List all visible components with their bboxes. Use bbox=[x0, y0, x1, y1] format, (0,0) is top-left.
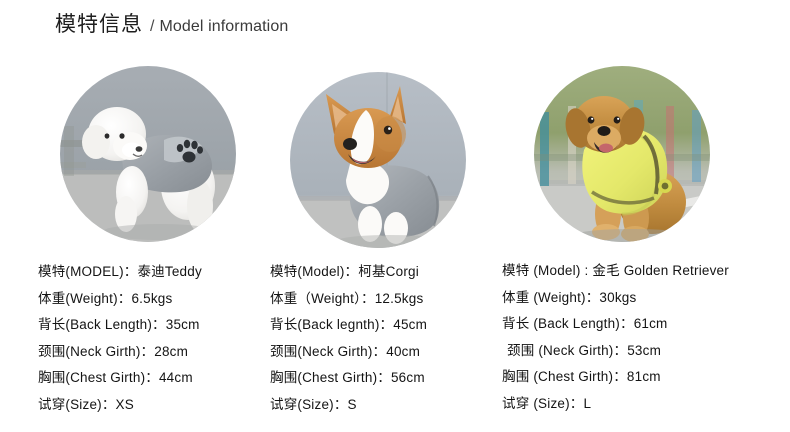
spec-weight: 体重 (Weight)：30kgs bbox=[502, 285, 790, 312]
model-list: 模特(MODEL)：泰迪Teddy 体重(Weight)：6.5kgs 背长(B… bbox=[0, 60, 790, 432]
model-specs-golden: 模特 (Model) : 金毛 Golden Retriever 体重 (Wei… bbox=[502, 258, 790, 417]
model-photo-corgi-wrap bbox=[290, 72, 466, 248]
model-photo-teddy-wrap bbox=[60, 66, 236, 242]
spec-back-length: 背长(Back legnth)：45cm bbox=[270, 312, 502, 339]
spec-neck-girth: 颈围(Neck Girth)：40cm bbox=[270, 339, 502, 366]
model-photo-teddy bbox=[60, 66, 236, 242]
model-card-golden-retriever: 模特 (Model) : 金毛 Golden Retriever 体重 (Wei… bbox=[492, 60, 790, 432]
spec-size: 试穿(Size)：S bbox=[270, 392, 502, 419]
spec-model: 模特(MODEL)：泰迪Teddy bbox=[38, 259, 290, 286]
spec-back-length: 背长 (Back Length)：61cm bbox=[502, 311, 790, 338]
model-card-corgi: 模特(Model)：柯基Corgi 体重（Weight）：12.5kgs 背长(… bbox=[262, 60, 494, 432]
spec-size: 试穿(Size)：XS bbox=[38, 392, 290, 419]
page-title-separator: / bbox=[150, 18, 154, 36]
page-title-cn: 模特信息 bbox=[55, 8, 143, 38]
spec-neck-girth: 颈围(Neck Girth)：28cm bbox=[38, 339, 290, 366]
model-photo-golden-wrap bbox=[534, 66, 710, 242]
spec-chest-girth: 胸围 (Chest Girth)：81cm bbox=[502, 364, 790, 391]
page-title-en: Model information bbox=[159, 18, 288, 36]
page-title: 模特信息 / Model information bbox=[55, 8, 288, 38]
spec-back-length: 背长(Back Length)：35cm bbox=[38, 312, 290, 339]
model-card-teddy: 模特(MODEL)：泰迪Teddy 体重(Weight)：6.5kgs 背长(B… bbox=[22, 60, 274, 432]
model-specs-corgi: 模特(Model)：柯基Corgi 体重（Weight）：12.5kgs 背长(… bbox=[270, 259, 502, 418]
spec-neck-girth: 颈围 (Neck Girth)：53cm bbox=[502, 338, 790, 365]
model-specs-teddy: 模特(MODEL)：泰迪Teddy 体重(Weight)：6.5kgs 背长(B… bbox=[38, 259, 290, 418]
model-photo-corgi bbox=[290, 72, 466, 248]
spec-weight: 体重（Weight）：12.5kgs bbox=[270, 286, 502, 313]
spec-chest-girth: 胸围(Chest Girth)：56cm bbox=[270, 365, 502, 392]
spec-weight: 体重(Weight)：6.5kgs bbox=[38, 286, 290, 313]
spec-model: 模特(Model)：柯基Corgi bbox=[270, 259, 502, 286]
spec-size: 试穿 (Size)：L bbox=[502, 391, 790, 418]
model-photo-golden bbox=[534, 66, 710, 242]
spec-chest-girth: 胸围(Chest Girth)：44cm bbox=[38, 365, 290, 392]
spec-model: 模特 (Model) : 金毛 Golden Retriever bbox=[502, 258, 790, 285]
